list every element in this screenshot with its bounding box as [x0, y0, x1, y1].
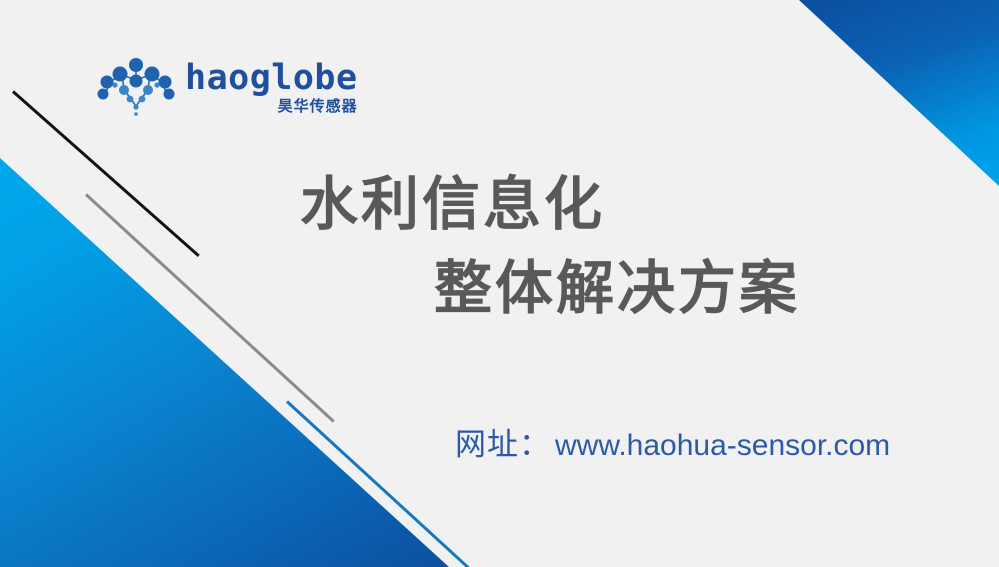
logo-text-group: haoglobe 昊华传感器	[185, 61, 358, 114]
website-label: 网址：	[455, 419, 551, 464]
page-title: 水利信息化 整体解决方案	[300, 163, 920, 331]
title-line-2: 整体解决方案	[300, 247, 920, 331]
title-line-1: 水利信息化	[300, 163, 920, 247]
top-right-triangle-decoration	[799, 0, 999, 186]
company-logo: haoglobe 昊华传感器	[97, 56, 358, 118]
website-line: 网址： www.haohua-sensor.com	[455, 419, 890, 464]
network-dots-icon	[97, 56, 175, 118]
diagonal-line-blue	[286, 400, 472, 567]
diagonal-line-gray	[85, 193, 335, 422]
website-url[interactable]: www.haohua-sensor.com	[555, 429, 890, 463]
logo-subtitle: 昊华传感器	[278, 99, 358, 114]
logo-wordmark: haoglobe	[185, 61, 358, 96]
title-slide: haoglobe 昊华传感器 水利信息化 整体解决方案 网址： www.haoh…	[0, 0, 999, 567]
